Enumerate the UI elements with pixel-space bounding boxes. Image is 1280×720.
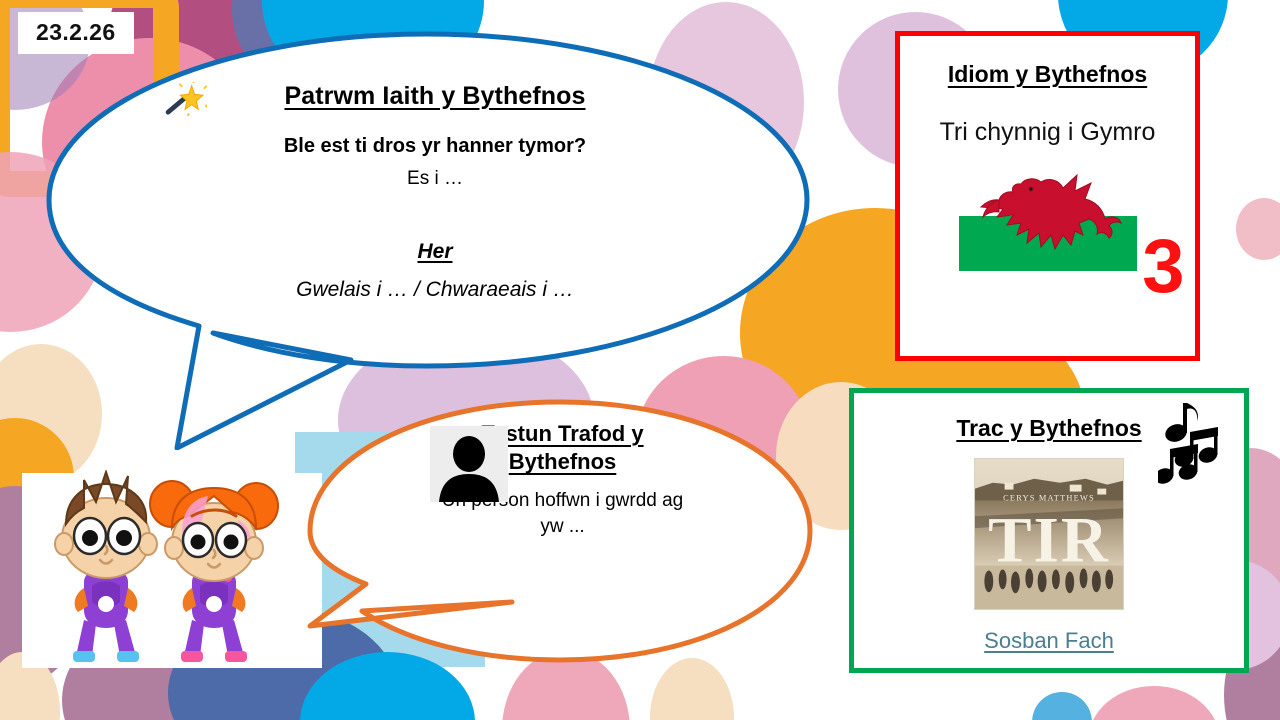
challenge-examples: Gwelais i … / Chwaraeais i … bbox=[165, 278, 705, 302]
album-artist-text: CERYS MATTHEWS bbox=[1003, 493, 1095, 502]
bg-circle-pink-bottom-2 bbox=[1088, 686, 1220, 720]
boy-character bbox=[55, 472, 157, 662]
language-pattern-content: Patrwm Iaith y Bythefnos Ble est ti dros… bbox=[165, 82, 705, 302]
album-cover-image: CERYS MATTHEWS TIR bbox=[974, 458, 1124, 610]
language-pattern-bubble: Patrwm Iaith y Bythefnos Ble est ti dros… bbox=[45, 30, 820, 450]
idiom-box: Idiom y Bythefnos Tri chynnig i Gymro 3 bbox=[895, 31, 1200, 361]
music-notes-icon bbox=[1158, 399, 1228, 484]
welsh-flag-icon bbox=[959, 161, 1137, 271]
language-pattern-title: Patrwm Iaith y Bythefnos bbox=[165, 82, 705, 111]
language-pattern-answer: Es i … bbox=[165, 168, 705, 190]
discussion-topic-content: Testun Trafod y Bythefnos Un person hoff… bbox=[430, 420, 695, 549]
bg-circle-blue-bottom-small bbox=[1032, 692, 1092, 720]
track-header: Trac y Bythefnos bbox=[854, 393, 1244, 442]
language-pattern-question: Ble est ti dros yr hanner tymor? bbox=[165, 135, 705, 158]
girl-character bbox=[150, 481, 278, 662]
person-silhouette-icon bbox=[430, 426, 508, 502]
album-title-text: TIR bbox=[988, 505, 1110, 577]
idiom-number: 3 bbox=[1142, 229, 1184, 305]
two-cartoon-children-icon bbox=[40, 470, 305, 670]
discussion-topic-bubble: Testun Trafod y Bythefnos Un person hoff… bbox=[300, 398, 820, 673]
track-box: Trac y Bythefnos bbox=[849, 388, 1249, 673]
track-link[interactable]: Sosban Fach bbox=[854, 628, 1244, 654]
welsh-flag-wrap: 3 bbox=[959, 161, 1137, 271]
idiom-title: Idiom y Bythefnos bbox=[900, 36, 1195, 88]
challenge-label: Her bbox=[417, 240, 452, 264]
idiom-text: Tri chynnig i Gymro bbox=[900, 118, 1195, 147]
bg-circle-pink-edge-right bbox=[1236, 198, 1280, 260]
magic-wand-icon bbox=[165, 82, 207, 116]
date-badge: 23.2.26 bbox=[18, 12, 134, 54]
slide-canvas: 23.2.26 Patrwm Iaith y Bythefnos Ble est… bbox=[0, 0, 1280, 720]
challenge-row: Her bbox=[165, 240, 705, 264]
